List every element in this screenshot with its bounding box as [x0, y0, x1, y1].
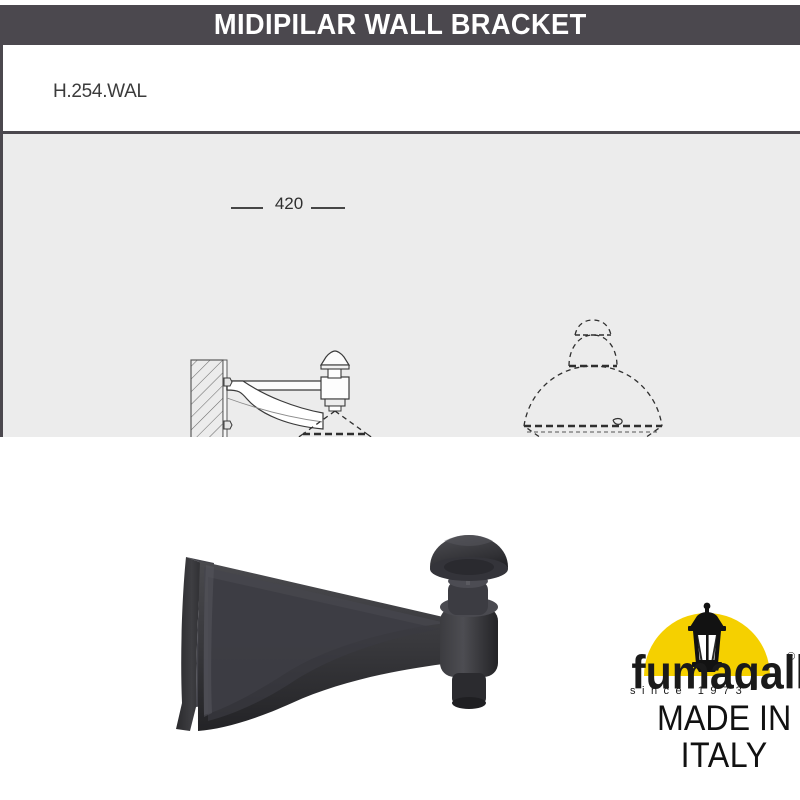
photo-bracket-arm: [198, 561, 452, 731]
technical-drawing-panel: 420: [0, 134, 800, 437]
drawing-view-upward: [449, 320, 662, 437]
brand-wordmark: fumagalli: [631, 646, 800, 690]
header-bar: MIDIPILAR WALL BRACKET: [0, 5, 800, 45]
drawing-view-downward: [191, 208, 404, 437]
photo-top-cap: [430, 535, 508, 581]
technical-drawings-svg: [3, 134, 800, 437]
brand-logo: fumagalli ® since 1973 MADE IN ITALY: [612, 598, 800, 798]
lamp-joint-left: [321, 351, 349, 411]
bracket-arm-left: [224, 378, 323, 429]
product-code: H.254.WAL: [53, 81, 147, 103]
wall-hatch-left: [191, 360, 227, 437]
lantern-outline-upward: [524, 320, 662, 437]
page-title: MIDIPILAR WALL BRACKET: [214, 9, 587, 42]
fumagalli-logo-mark: fumagalli ®: [612, 598, 800, 690]
made-in-italy-label: MADE IN ITALY: [634, 700, 800, 774]
dimension-value-420: 420: [265, 194, 313, 214]
brand-tagline: since 1973: [630, 685, 748, 697]
registered-mark: ®: [787, 651, 795, 663]
product-code-strip: H.254.WAL: [0, 45, 800, 133]
made-in-line-2: ITALY: [634, 737, 800, 774]
made-in-line-1: MADE IN: [634, 700, 800, 737]
